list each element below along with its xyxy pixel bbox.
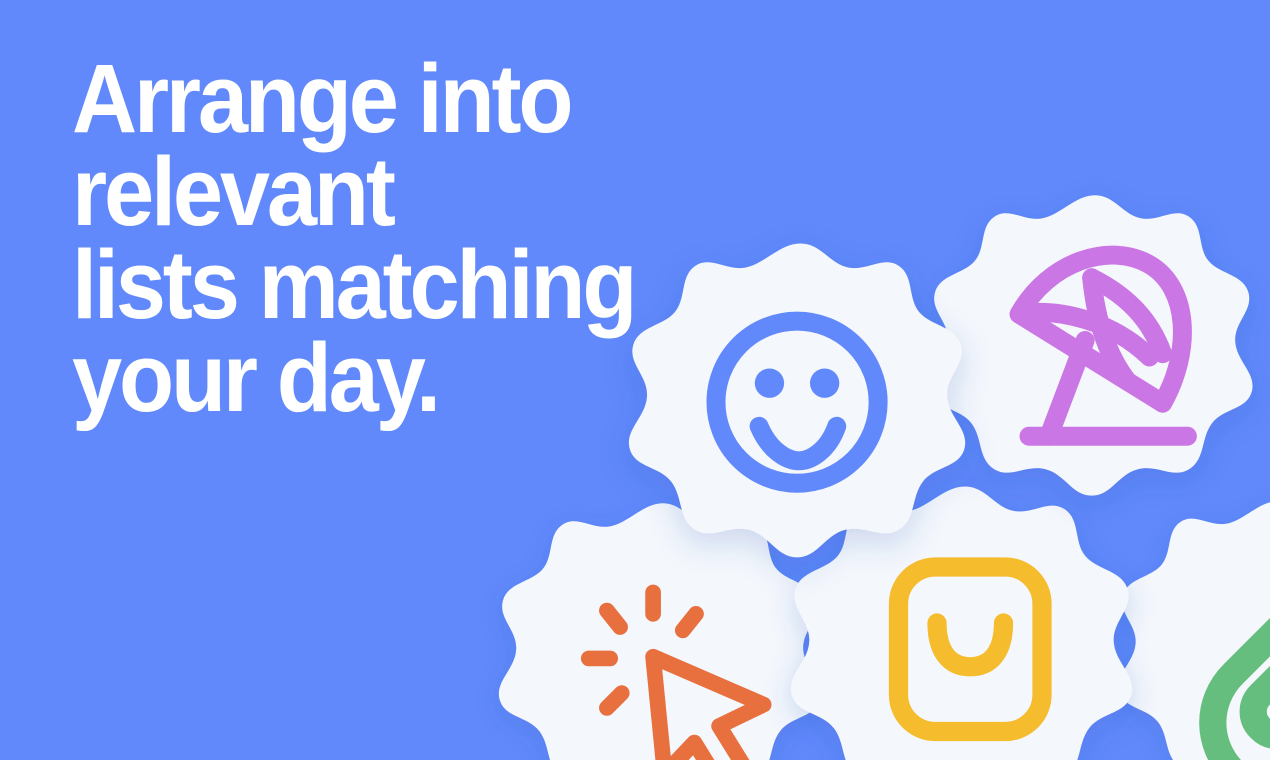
badge-paperclip[interactable]: [1118, 498, 1270, 760]
page-title: Arrange into relevant lists matching you…: [72, 52, 890, 424]
badge-umbrella[interactable]: [930, 192, 1260, 522]
hero-banner: Arrange into relevant lists matching you…: [0, 0, 1270, 760]
